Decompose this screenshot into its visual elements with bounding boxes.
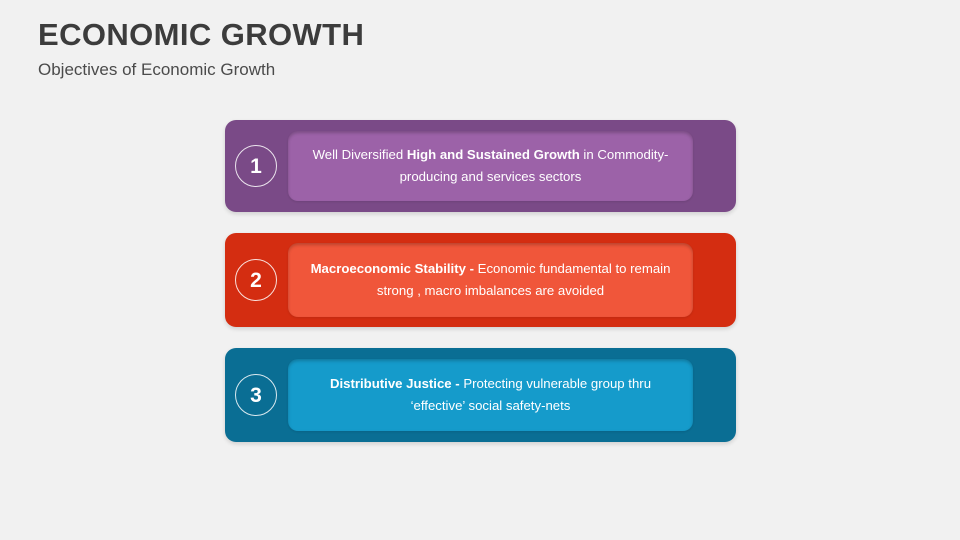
- list-item-1[interactable]: 1 Well Diversified High and Sustained Gr…: [225, 120, 736, 212]
- item-text-lead-1: Well Diversified: [313, 147, 407, 162]
- item-content-panel-2: Macroeconomic Stability - Economic funda…: [288, 243, 693, 317]
- item-content-panel-1: Well Diversified High and Sustained Grow…: [288, 131, 693, 201]
- item-text-bold-1: High and Sustained Growth: [407, 147, 580, 162]
- page-title: ECONOMIC GROWTH: [38, 16, 898, 54]
- item-content-panel-3: Distributive Justice - Protecting vulner…: [288, 359, 693, 431]
- item-number-badge-3: 3: [235, 374, 277, 416]
- objectives-list: 1 Well Diversified High and Sustained Gr…: [225, 120, 736, 442]
- slide: ECONOMIC GROWTH Objectives of Economic G…: [0, 0, 960, 540]
- item-text-bold-2: Macroeconomic Stability -: [311, 261, 474, 276]
- list-item-2[interactable]: 2 Macroeconomic Stability - Economic fun…: [225, 233, 736, 327]
- item-text-1: Well Diversified High and Sustained Grow…: [302, 144, 679, 188]
- item-number-badge-2: 2: [235, 259, 277, 301]
- item-text-bold-3: Distributive Justice -: [330, 376, 460, 391]
- item-number-badge-1: 1: [235, 145, 277, 187]
- item-text-2: Macroeconomic Stability - Economic funda…: [302, 258, 679, 302]
- page-subtitle: Objectives of Economic Growth: [38, 58, 898, 82]
- list-item-3[interactable]: 3 Distributive Justice - Protecting vuln…: [225, 348, 736, 442]
- item-text-3: Distributive Justice - Protecting vulner…: [302, 373, 679, 417]
- slide-header: ECONOMIC GROWTH Objectives of Economic G…: [38, 16, 898, 82]
